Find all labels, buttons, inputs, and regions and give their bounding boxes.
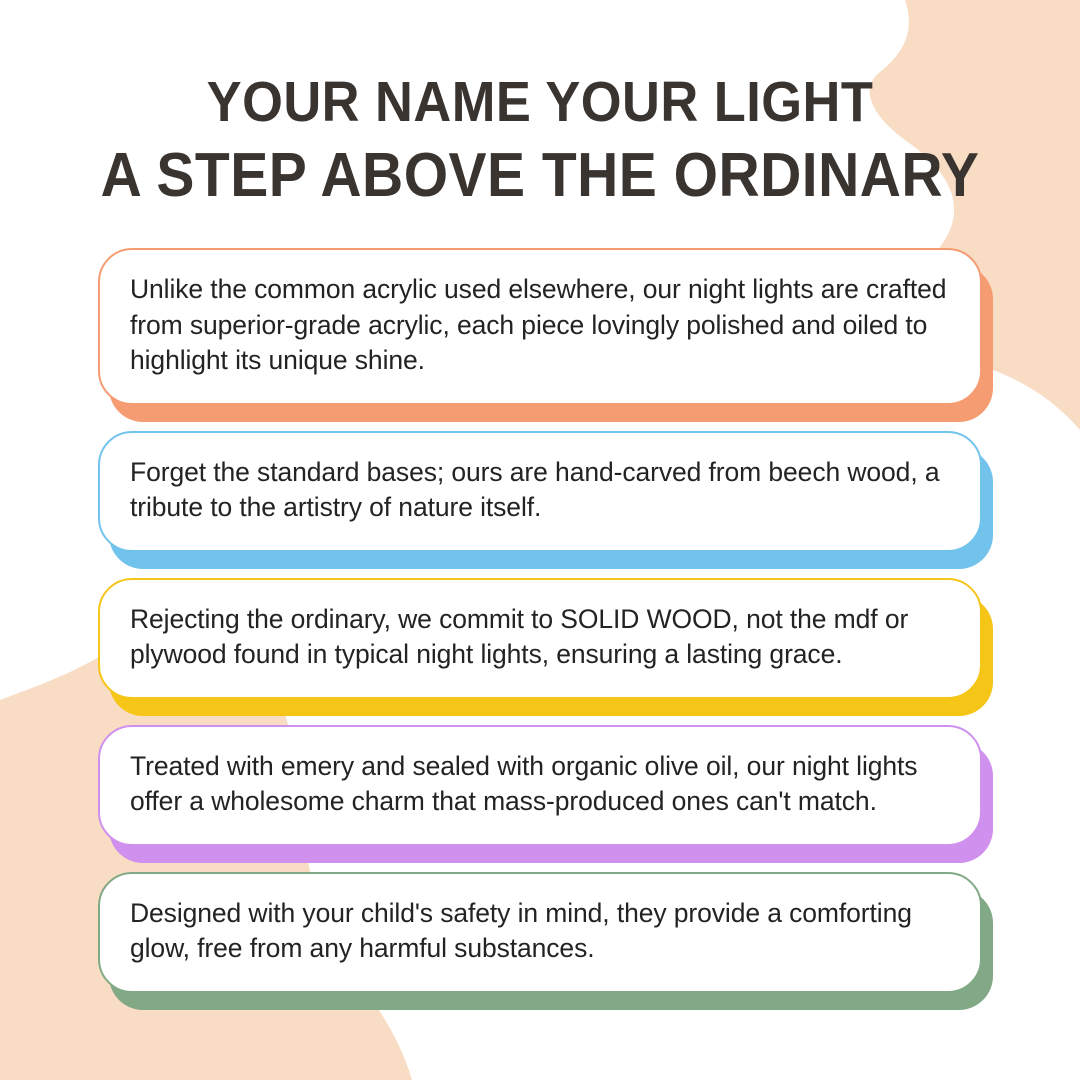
feature-card: Designed with your child's safety in min… [98, 872, 982, 993]
card-face: Forget the standard bases; ours are hand… [98, 431, 982, 552]
card-text: Treated with emery and sealed with organ… [130, 749, 950, 820]
card-face: Rejecting the ordinary, we commit to SOL… [98, 578, 982, 699]
feature-card: Forget the standard bases; ours are hand… [98, 431, 982, 552]
poster-canvas: YOUR NAME YOUR LIGHT A STEP ABOVE THE OR… [0, 0, 1080, 1080]
feature-card: Unlike the common acrylic used elsewhere… [98, 248, 982, 405]
heading-line-2: A STEP ABOVE THE ORDINARY [43, 138, 1037, 214]
card-face: Treated with emery and sealed with organ… [98, 725, 982, 846]
card-text: Unlike the common acrylic used elsewhere… [130, 272, 950, 379]
card-face: Unlike the common acrylic used elsewhere… [98, 248, 982, 405]
feature-card: Treated with emery and sealed with organ… [98, 725, 982, 846]
card-face: Designed with your child's safety in min… [98, 872, 982, 993]
poster-heading: YOUR NAME YOUR LIGHT A STEP ABOVE THE OR… [0, 68, 1080, 213]
card-text: Rejecting the ordinary, we commit to SOL… [130, 602, 950, 673]
card-text: Designed with your child's safety in min… [130, 896, 950, 967]
heading-line-1: YOUR NAME YOUR LIGHT [43, 68, 1037, 138]
feature-card: Rejecting the ordinary, we commit to SOL… [98, 578, 982, 699]
feature-card-list: Unlike the common acrylic used elsewhere… [0, 248, 1080, 1019]
card-text: Forget the standard bases; ours are hand… [130, 455, 950, 526]
